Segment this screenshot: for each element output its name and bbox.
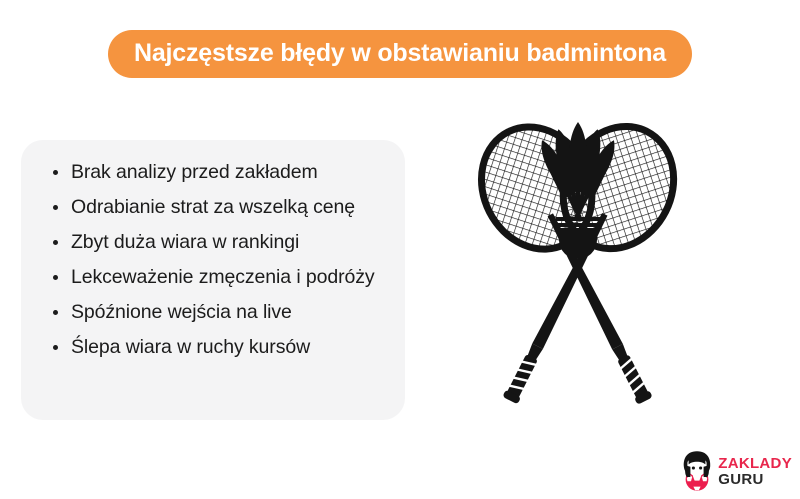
brand-logo[interactable]: ZAKLADY GURU [679,449,792,493]
page-title: Najczęstsze błędy w obstawianiu badminto… [134,39,666,67]
logo-wordmark: ZAKLADY GURU [718,456,792,487]
list-item: Spóźnione wejścia na live [47,298,383,326]
list-item: Lekceważenie zmęczenia i podróży [47,263,383,291]
infographic-canvas: Najczęstsze błędy w obstawianiu badminto… [0,0,800,499]
list-item: Odrabianie strat za wszelką cenę [47,193,383,221]
list-item: Zbyt duża wiara w rankingi [47,228,383,256]
zaklady-guru-mascot-icon [679,450,715,492]
badminton-illustration [428,118,728,418]
list-item: Ślepa wiara w ruchy kursów [47,333,383,361]
list-item: Brak analizy przed zakładem [47,158,383,186]
logo-line-2: GURU [718,472,792,487]
logo-line-1: ZAKLADY [718,456,792,471]
title-pill: Najczęstsze błędy w obstawianiu badminto… [108,30,692,78]
badminton-rackets-shuttlecock-icon [428,118,728,418]
title-banner: Najczęstsze błędy w obstawianiu badminto… [0,30,800,78]
mistakes-list-card: Brak analizy przed zakładem Odrabianie s… [21,140,405,420]
mistakes-list: Brak analizy przed zakładem Odrabianie s… [47,158,383,361]
